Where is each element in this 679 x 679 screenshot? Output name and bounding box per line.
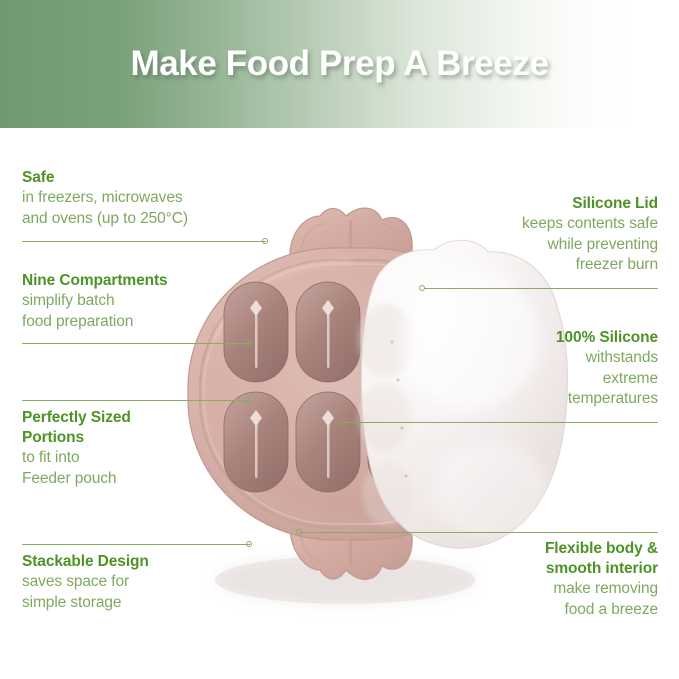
connector-line-100-silicone [345, 422, 658, 423]
callout-100-silicone-body: withstands extreme temperatures [398, 348, 658, 410]
connector-dot-flexible-body [296, 529, 302, 535]
callout-silicone-lid: Silicone Lid keeps contents safe while p… [398, 194, 658, 276]
callout-flexible-body: Flexible body & smooth interior make rem… [398, 539, 658, 620]
connector-dot-100-silicone [340, 419, 346, 425]
compartment-5 [296, 392, 360, 492]
callout-stackable-design: Stackable Design saves space for simple … [22, 552, 272, 613]
connector-line-flexible-body [300, 532, 658, 533]
connector-line-silicone-lid [424, 288, 658, 289]
connector-dot-stackable [246, 541, 252, 547]
header-banner: Make Food Prep A Breeze [0, 0, 679, 128]
compartment-2 [296, 282, 360, 382]
callout-silicone-lid-heading: Silicone Lid [398, 194, 658, 214]
connector-line-perfectly-sized [22, 400, 248, 401]
callout-safe-heading: Safe [22, 168, 272, 188]
callout-nine-compartments-body: simplify batch food preparation [22, 291, 272, 332]
callout-stackable-design-body: saves space for simple storage [22, 572, 272, 613]
callout-silicone-lid-body: keeps contents safe while preventing fre… [398, 214, 658, 276]
callout-safe-body: in freezers, microwaves and ovens (up to… [22, 188, 272, 229]
page-title: Make Food Prep A Breeze [0, 44, 679, 84]
callout-100-silicone: 100% Silicone withstands extreme tempera… [398, 328, 658, 410]
callout-flexible-body-heading: Flexible body & smooth interior [398, 539, 658, 579]
connector-line-nine-compartments [22, 343, 250, 344]
callout-flexible-body-body: make removing food a breeze [398, 579, 658, 620]
connector-dot-silicone-lid [419, 285, 425, 291]
callout-perfectly-sized-portions-heading: Perfectly Sized Portions [22, 408, 272, 448]
callout-nine-compartments-heading: Nine Compartments [22, 271, 272, 291]
connector-line-safe [22, 241, 266, 242]
callout-perfectly-sized-portions-body: to fit into Feeder pouch [22, 448, 272, 489]
connector-dot-safe [262, 238, 268, 244]
callout-100-silicone-heading: 100% Silicone [398, 328, 658, 348]
product-feature-infographic: Make Food Prep A Breeze [0, 0, 679, 679]
connector-line-stackable [22, 544, 250, 545]
callout-stackable-design-heading: Stackable Design [22, 552, 272, 572]
connector-dot-nine-compartments [246, 340, 252, 346]
connector-dot-perfectly-sized [244, 397, 250, 403]
callout-nine-compartments: Nine Compartments simplify batch food pr… [22, 271, 272, 332]
callout-perfectly-sized-portions: Perfectly Sized Portions to fit into Fee… [22, 408, 272, 489]
callout-safe: Safe in freezers, microwaves and ovens (… [22, 168, 272, 229]
